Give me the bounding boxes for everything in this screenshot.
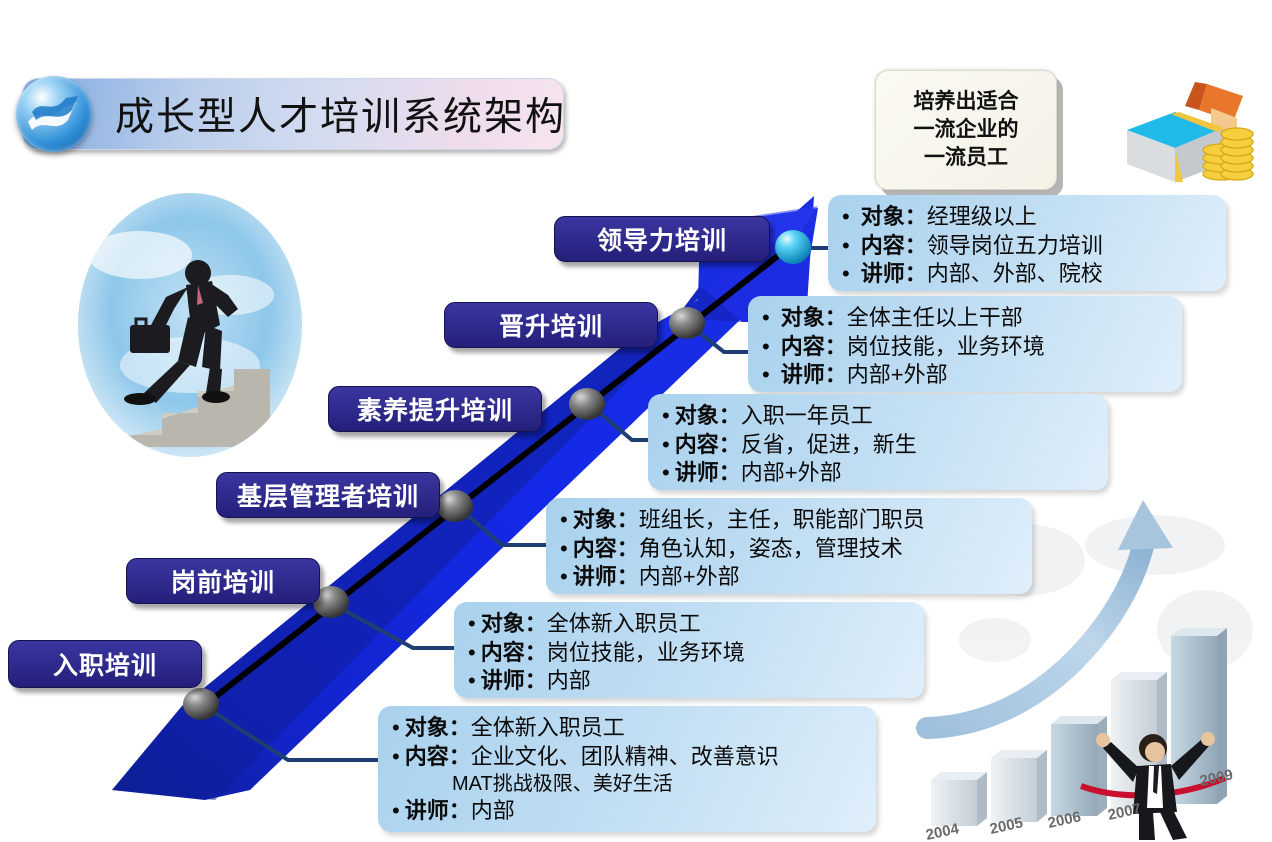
detail-row-continuation: MAT挑战极限、美好生活 <box>392 771 862 797</box>
goal-line-3: 一流员工 <box>924 144 1008 172</box>
node-promotion <box>669 307 705 339</box>
bullet-icon: • <box>468 667 476 696</box>
detail-row: • 内容： 企业文化、团队精神、改善意识 <box>392 743 862 772</box>
stage-label-promotion-text: 晋升培训 <box>499 307 603 343</box>
bullet-icon: • <box>762 304 770 333</box>
detail-box-promotion: • 对象： 全体主任以上干部 • 内容： 岗位技能，业务环境 • 讲师： 内部+… <box>748 296 1182 392</box>
detail-row: • 内容： 岗位技能，业务环境 <box>468 639 910 668</box>
stage-label-onboarding-text: 入职培训 <box>53 646 157 682</box>
detail-row: • 讲师： 内部+外部 <box>662 459 1094 488</box>
detail-row: • 对象： 全体主任以上干部 <box>762 304 1168 333</box>
bullet-icon: • <box>842 260 850 289</box>
node-onboarding <box>183 688 219 720</box>
page-title-bar: 成长型人才培训系统架构 <box>22 78 564 150</box>
node-leadership <box>775 230 811 264</box>
detail-row: • 对象： 入职一年员工 <box>662 402 1094 431</box>
bullet-icon: • <box>560 506 568 535</box>
goal-statement-box: 培养出适合 一流企业的 一流员工 <box>875 70 1057 190</box>
stage-label-onboarding[interactable]: 入职培训 <box>8 640 202 688</box>
goal-line-2: 一流企业的 <box>914 116 1019 144</box>
detail-row: • 对象： 班组长，主任，职能部门职员 <box>560 506 1018 535</box>
detail-row: • 讲师： 内部 <box>392 797 862 826</box>
detail-box-onboarding: • 对象： 全体新入职员工 • 内容： 企业文化、团队精神、改善意识 MAT挑战… <box>378 706 876 832</box>
stage-label-leadership-text: 领导力培训 <box>597 221 727 257</box>
node-frontline-manager <box>437 490 473 522</box>
detail-box-leadership: • 对象： 经理级以上 • 内容： 领导岗位五力培训 • 讲师： 内部、外部、院… <box>828 195 1226 291</box>
detail-row: • 对象： 全体新入职员工 <box>392 714 862 743</box>
detail-box-frontline-manager: • 对象： 班组长，主任，职能部门职员 • 内容： 角色认知，姿态，管理技术 •… <box>546 498 1032 594</box>
node-competency <box>569 388 605 420</box>
bullet-icon: • <box>560 535 568 564</box>
detail-box-pre-post: • 对象： 全体新入职员工 • 内容： 岗位技能，业务环境 • 讲师： 内部 <box>454 602 924 698</box>
detail-box-competency: • 对象： 入职一年员工 • 内容： 反省，促进，新生 • 讲师： 内部+外部 <box>648 394 1108 490</box>
detail-row: • 讲师： 内部 <box>468 667 910 696</box>
wave-logo-icon <box>16 76 92 152</box>
bullet-icon: • <box>842 232 850 261</box>
stage-label-promotion[interactable]: 晋升培训 <box>444 302 658 348</box>
stage-label-competency[interactable]: 素养提升培训 <box>328 386 542 432</box>
bullet-icon: • <box>392 714 400 743</box>
bullet-icon: • <box>762 333 770 362</box>
bullet-icon: • <box>762 361 770 390</box>
bullet-icon: • <box>560 563 568 592</box>
bullet-icon: • <box>468 610 476 639</box>
bullet-icon: • <box>662 431 670 460</box>
stage-label-pre-post[interactable]: 岗前培训 <box>126 558 320 604</box>
detail-row: • 内容： 反省，促进，新生 <box>662 431 1094 460</box>
businessman-climbing-stairs-photo <box>70 185 310 465</box>
stage-label-leadership[interactable]: 领导力培训 <box>554 216 770 262</box>
stage-label-frontline-manager[interactable]: 基层管理者培训 <box>216 472 440 518</box>
stage-label-competency-text: 素养提升培训 <box>357 391 513 427</box>
goal-line-1: 培养出适合 <box>914 88 1019 116</box>
detail-row: • 内容： 岗位技能，业务环境 <box>762 333 1168 362</box>
stage-label-pre-post-text: 岗前培训 <box>171 563 275 599</box>
stage-label-frontline-manager-text: 基层管理者培训 <box>237 477 419 513</box>
bullet-icon: • <box>392 743 400 772</box>
detail-row: • 讲师： 内部+外部 <box>560 563 1018 592</box>
bullet-icon: • <box>662 459 670 488</box>
page-title: 成长型人才培训系统架构 <box>115 79 566 149</box>
house-coins-icon <box>1115 78 1255 190</box>
slide-canvas: 成长型人才培训系统架构 培养出适合 一流企业的 一流员工 <box>0 0 1272 842</box>
detail-row: • 对象： 经理级以上 <box>842 203 1212 232</box>
detail-row: • 讲师： 内部、外部、院校 <box>842 260 1212 289</box>
bullet-icon: • <box>842 203 850 232</box>
detail-row: • 内容： 领导岗位五力培训 <box>842 232 1212 261</box>
detail-row: • 讲师： 内部+外部 <box>762 361 1168 390</box>
bullet-icon: • <box>662 402 670 431</box>
bullet-icon: • <box>392 797 400 826</box>
bullet-icon: • <box>468 639 476 668</box>
detail-row: • 对象： 全体新入职员工 <box>468 610 910 639</box>
detail-row: • 内容： 角色认知，姿态，管理技术 <box>560 535 1018 564</box>
